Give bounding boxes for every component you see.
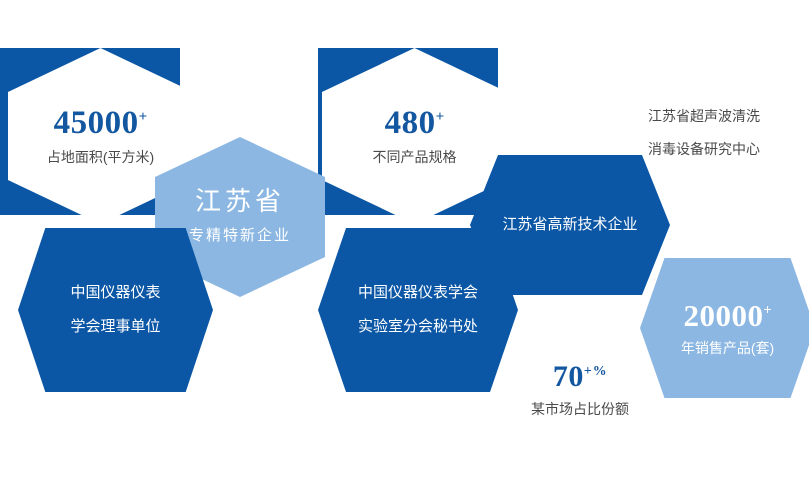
stat-caption-market-share: 某市场占比份额: [500, 401, 660, 418]
stat-caption-area: 占地面积(平方米): [47, 149, 154, 166]
stat-value-market-share: 70+%: [500, 362, 660, 392]
research-center-text: 江苏省超声波清洗 消毒设备研究中心: [648, 108, 760, 158]
badge-council-member[interactable]: 中国仪器仪表 学会理事单位: [18, 228, 213, 392]
stat-caption-specs: 不同产品规格: [373, 149, 457, 166]
infographic-canvas: 45000+ 占地面积(平方米) 480+ 不同产品规格 江苏省 专精特新企业 …: [0, 0, 809, 487]
stat-value-specs: 480+: [385, 107, 445, 140]
badge-lab-secretariat-label: 中国仪器仪表学会 实验室分会秘书处: [358, 284, 478, 336]
stat-card-annual-sales[interactable]: 20000+ 年销售产品(套): [640, 258, 809, 398]
stat-card-market-share[interactable]: 70+% 某市场占比份额: [500, 362, 660, 418]
badge-high-tech-label: 江苏省高新技术企业: [502, 216, 637, 234]
badge-jiangsu-title: 江苏省: [195, 189, 285, 215]
badge-jiangsu-subtitle: 专精特新企业: [189, 224, 291, 245]
research-center-line-1: 江苏省超声波清洗: [648, 108, 760, 125]
research-center-line-2: 消毒设备研究中心: [648, 141, 760, 158]
stat-caption-annual-sales: 年销售产品(套): [681, 340, 774, 357]
stat-value-area: 45000+: [54, 107, 148, 140]
badge-lab-secretariat[interactable]: 中国仪器仪表学会 实验室分会秘书处: [318, 228, 518, 392]
stat-value-annual-sales: 20000+: [683, 300, 771, 331]
badge-council-member-label: 中国仪器仪表 学会理事单位: [70, 284, 160, 336]
